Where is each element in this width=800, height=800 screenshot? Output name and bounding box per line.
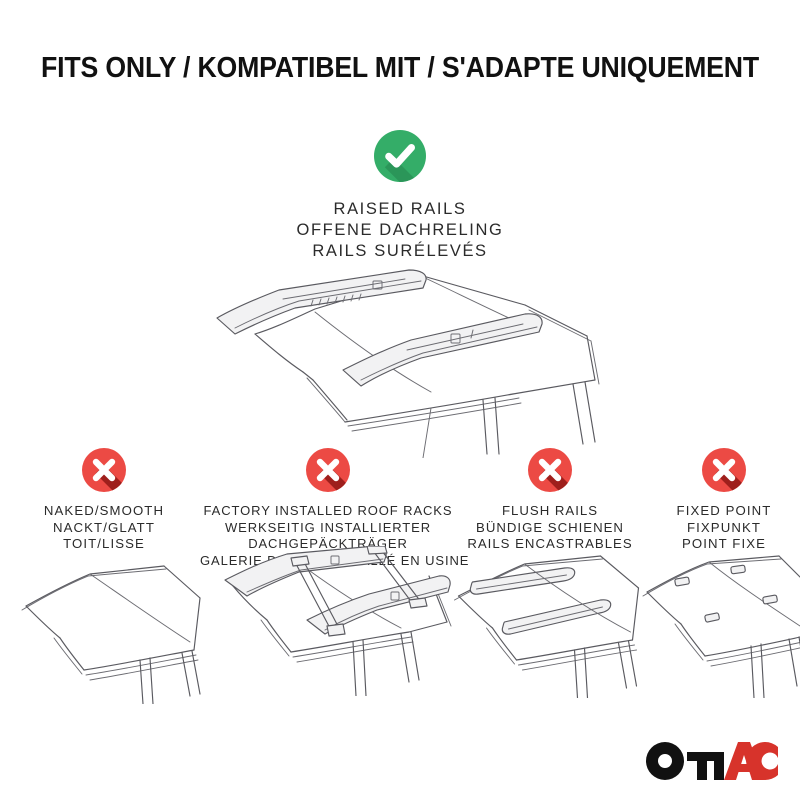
label-en: FIXED POINT bbox=[648, 503, 800, 520]
x-circle-icon bbox=[82, 448, 126, 492]
incompatible-item-flush-rails: FLUSH RAILS BÜNDIGE SCHIENEN RAILS ENCAS… bbox=[450, 448, 650, 553]
incompatible-section: NAKED/SMOOTH NACKT/GLATT TOIT/LISSE bbox=[0, 448, 800, 708]
compatible-label-fr: RAILS SURÉLEVÉS bbox=[200, 241, 600, 262]
page-title: FITS ONLY / KOMPATIBEL MIT / S'ADAPTE UN… bbox=[32, 52, 768, 85]
car-roof-flush-rails-illustration bbox=[443, 548, 658, 698]
x-mark-glyph bbox=[702, 448, 746, 492]
check-circle-icon bbox=[374, 130, 426, 182]
check-mark-glyph bbox=[374, 130, 426, 182]
label-fr: TOIT/LISSE bbox=[6, 536, 202, 553]
car-roof-factory-racks-illustration bbox=[203, 546, 453, 696]
label-de: BÜNDIGE SCHIENEN bbox=[450, 520, 650, 537]
compatible-section: RAISED RAILS OFFENE DACHRELING RAILS SUR… bbox=[200, 130, 600, 262]
car-roof-fixed-point-illustration bbox=[629, 548, 800, 698]
car-roof-raised-rails-illustration bbox=[195, 268, 605, 458]
logo-letter-o bbox=[646, 742, 684, 780]
label-de-1: WERKSEITIG INSTALLIERTER bbox=[200, 520, 456, 537]
incompatible-item-naked: NAKED/SMOOTH NACKT/GLATT TOIT/LISSE bbox=[6, 448, 202, 553]
logo-letter-m bbox=[687, 752, 724, 780]
x-circle-icon bbox=[306, 448, 350, 492]
label-en: FLUSH RAILS bbox=[450, 503, 650, 520]
omac-logo bbox=[642, 738, 778, 782]
car-roof-naked-illustration bbox=[4, 554, 204, 704]
product-compatibility-infographic: FITS ONLY / KOMPATIBEL MIT / S'ADAPTE UN… bbox=[0, 0, 800, 800]
incompatible-item-fixed-point: FIXED POINT FIXPUNKT POINT FIXE bbox=[648, 448, 800, 553]
incompatible-labels-fixed-point: FIXED POINT FIXPUNKT POINT FIXE bbox=[648, 503, 800, 553]
omac-logo-mark bbox=[642, 738, 778, 782]
compatible-labels: RAISED RAILS OFFENE DACHRELING RAILS SUR… bbox=[200, 199, 600, 262]
label-de: FIXPUNKT bbox=[648, 520, 800, 537]
x-circle-icon bbox=[528, 448, 572, 492]
compatible-label-de: OFFENE DACHRELING bbox=[200, 220, 600, 241]
incompatible-labels-flush-rails: FLUSH RAILS BÜNDIGE SCHIENEN RAILS ENCAS… bbox=[450, 503, 650, 553]
x-circle-icon bbox=[702, 448, 746, 492]
incompatible-labels-naked: NAKED/SMOOTH NACKT/GLATT TOIT/LISSE bbox=[6, 503, 202, 553]
label-en: NAKED/SMOOTH bbox=[6, 503, 202, 520]
label-de: NACKT/GLATT bbox=[6, 520, 202, 537]
label-en: FACTORY INSTALLED ROOF RACKS bbox=[200, 503, 456, 520]
x-mark-glyph bbox=[82, 448, 126, 492]
x-mark-glyph bbox=[528, 448, 572, 492]
x-mark-glyph bbox=[306, 448, 350, 492]
incompatible-item-factory-racks: FACTORY INSTALLED ROOF RACKS WERKSEITIG … bbox=[200, 448, 456, 569]
compatible-label-en: RAISED RAILS bbox=[200, 199, 600, 220]
